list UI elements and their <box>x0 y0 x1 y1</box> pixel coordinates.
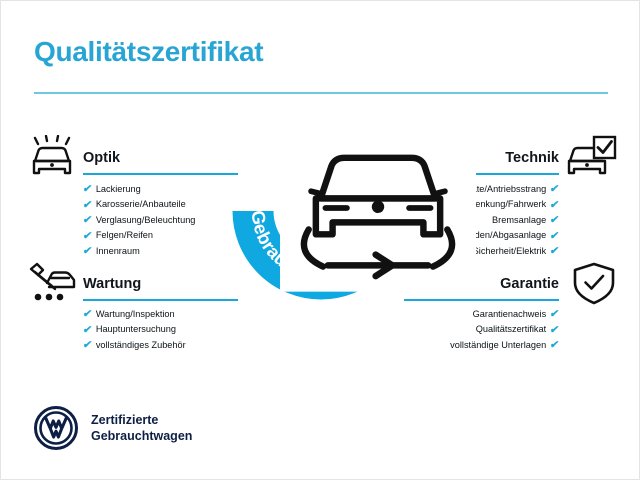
check-icon: ✔ <box>82 309 92 320</box>
badge-360-gebrauchtwagen-check: Gebrauchtwagen-Check 360° <box>223 113 419 309</box>
list-item: Garantienachweis✔ <box>364 307 559 322</box>
list-item: Qualitätszertifikat✔ <box>364 322 559 337</box>
section-list-garantie: Garantienachweis✔ Qualitätszertifikat✔ v… <box>364 307 559 353</box>
check-icon: ✔ <box>82 340 92 351</box>
list-item: ✔vollständiges Zubehör <box>83 338 186 353</box>
check-icon: ✔ <box>549 309 559 320</box>
list-item-label: vollständige Unterlagen <box>450 338 546 353</box>
list-item: ✔Hauptuntersuchung <box>83 322 186 337</box>
list-item: vollständige Unterlagen✔ <box>364 338 559 353</box>
footer-branding: Zertifizierte Gebrauchtwagen <box>34 406 192 450</box>
list-item-label: Wartung/Inspektion <box>96 307 175 322</box>
section-heading-wartung: Wartung <box>83 276 141 292</box>
wrench-car-icon <box>25 261 79 312</box>
check-icon: ✔ <box>549 325 559 336</box>
footer-text: Zertifizierte Gebrauchtwagen <box>91 412 192 444</box>
check-icon: ✔ <box>549 340 559 351</box>
footer-line-2: Gebrauchtwagen <box>91 428 192 444</box>
section-divider-wartung <box>83 299 238 301</box>
volkswagen-logo <box>34 406 78 450</box>
check-icon: ✔ <box>82 325 92 336</box>
car-front-rotate-icon <box>280 110 362 180</box>
list-item-label: vollständiges Zubehör <box>96 338 186 353</box>
shield-check-icon <box>570 261 618 312</box>
certificate-page: Qualitätszertifikat Optik ✔Lackierung ✔K… <box>0 0 640 480</box>
list-item-label: Hauptuntersuchung <box>96 322 176 337</box>
footer-line-1: Zertifizierte <box>91 412 192 428</box>
section-list-wartung: ✔Wartung/Inspektion ✔Hauptuntersuchung ✔… <box>83 307 186 353</box>
list-item: ✔Wartung/Inspektion <box>83 307 186 322</box>
list-item-label: Garantienachweis <box>473 307 547 322</box>
list-item-label: Qualitätszertifikat <box>476 322 546 337</box>
